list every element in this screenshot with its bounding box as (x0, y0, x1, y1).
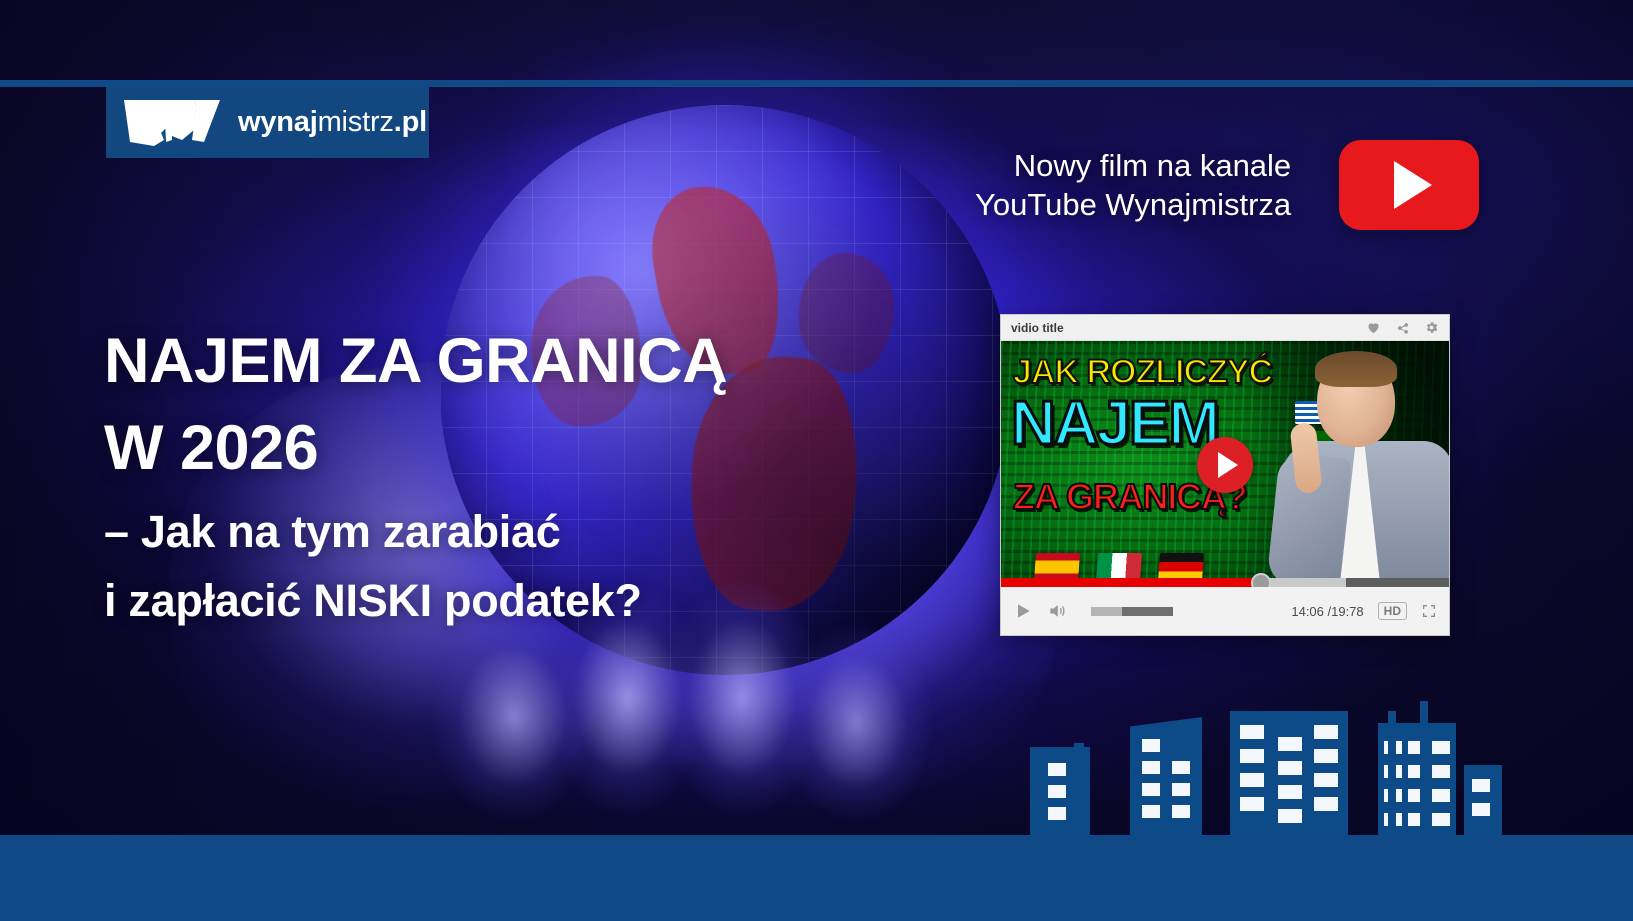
youtube-promo-line-1: Nowy film na kanale (975, 146, 1291, 185)
window (1432, 765, 1450, 778)
window (1142, 805, 1160, 818)
building (1074, 743, 1084, 835)
w-logo-icon (124, 96, 224, 148)
bottom-accent-bar (0, 835, 1633, 921)
building-antenna (1388, 711, 1396, 835)
youtube-promo-text: Nowy film na kanale YouTube Wynajmistrza (975, 146, 1291, 225)
headline-line-2: W 2026 (104, 405, 884, 492)
fullscreen-icon[interactable] (1421, 603, 1437, 619)
thumbnail-bottom-flags (1035, 553, 1203, 581)
window (1142, 739, 1160, 752)
window (1314, 725, 1338, 739)
window (1314, 749, 1338, 763)
window (1314, 773, 1338, 787)
germany-flag-icon (1158, 553, 1204, 581)
building-antenna (1420, 701, 1428, 835)
brand-name-part-3: .pl (394, 106, 427, 138)
building (1130, 717, 1202, 835)
play-circle-icon[interactable] (1197, 437, 1253, 493)
window (1172, 805, 1190, 818)
spain-flag-icon (1034, 553, 1080, 581)
brand-logo-badge[interactable]: wynajmistrz.pl (106, 86, 429, 158)
window (1240, 797, 1264, 811)
subheadline-line-1: – Jak na tym zarabiać (104, 502, 884, 561)
window (1048, 763, 1066, 776)
youtube-play-icon (1394, 161, 1432, 209)
window (1172, 761, 1190, 774)
hd-badge[interactable]: HD (1378, 602, 1407, 620)
subheadline-line-2: i zapłacić NISKI podatek? (104, 571, 884, 630)
window (1240, 749, 1264, 763)
play-icon[interactable] (1013, 601, 1033, 621)
window (1432, 741, 1450, 754)
window (1240, 773, 1264, 787)
window (1048, 785, 1066, 798)
window (1278, 809, 1302, 823)
progress-played (1001, 578, 1261, 587)
window (1240, 725, 1264, 739)
italy-flag-icon (1096, 553, 1142, 581)
headline-line-1: NAJEM ZA GRANICĄ (104, 318, 884, 405)
youtube-promo-line-2: YouTube Wynajmistrza (975, 185, 1291, 224)
presenter-photo (1275, 349, 1449, 587)
progress-scrubber[interactable] (1251, 573, 1271, 588)
progress-buffered (1261, 578, 1346, 587)
city-skyline-icon (1030, 695, 1490, 835)
youtube-play-button[interactable] (1339, 140, 1479, 230)
window (1472, 803, 1490, 816)
volume-slider-fill (1122, 607, 1173, 616)
window (1142, 783, 1160, 796)
volume-icon[interactable] (1047, 601, 1067, 621)
share-icon[interactable] (1395, 320, 1410, 335)
window (1172, 783, 1190, 796)
video-player[interactable]: vidio title JAK ROZLICZYĆ NAJEM ZA GRANI… (1000, 314, 1450, 636)
window (1278, 785, 1302, 799)
youtube-promo: Nowy film na kanale YouTube Wynajmistrza (975, 140, 1479, 230)
thumbnail-text-top: JAK ROZLICZYĆ (1013, 353, 1272, 392)
window (1278, 737, 1302, 751)
player-title: vidio title (1011, 321, 1064, 335)
player-time: 14:06 /19:78 (1291, 604, 1363, 619)
brand-name-part-1: wynaj (238, 106, 318, 138)
window (1432, 813, 1450, 826)
brand-name: wynajmistrz.pl (238, 106, 427, 139)
window (1472, 779, 1490, 792)
building (1464, 765, 1502, 835)
player-screen[interactable]: JAK ROZLICZYĆ NAJEM ZA GRANICĄ? (1001, 341, 1449, 587)
volume-slider[interactable] (1091, 607, 1173, 616)
headline-block: NAJEM ZA GRANICĄ W 2026 – Jak na tym zar… (104, 318, 884, 631)
player-controls: 14:06 /19:78 HD (1001, 587, 1449, 635)
brand-name-part-2: mistrz (318, 106, 394, 138)
building (1230, 711, 1348, 835)
player-header-icons (1366, 320, 1439, 335)
window (1048, 807, 1066, 820)
presenter-hair (1315, 351, 1397, 387)
window (1432, 789, 1450, 802)
gear-icon[interactable] (1424, 320, 1439, 335)
window (1142, 761, 1160, 774)
promo-banner: wynajmistrz.pl NAJEM ZA GRANICĄ W 2026 –… (0, 0, 1633, 921)
player-header: vidio title (1001, 315, 1449, 341)
window (1314, 797, 1338, 811)
progress-bar[interactable] (1001, 578, 1449, 587)
window (1278, 761, 1302, 775)
play-triangle (1218, 452, 1238, 478)
heart-icon[interactable] (1366, 320, 1381, 335)
thumbnail-text-middle: NAJEM (1011, 393, 1218, 455)
